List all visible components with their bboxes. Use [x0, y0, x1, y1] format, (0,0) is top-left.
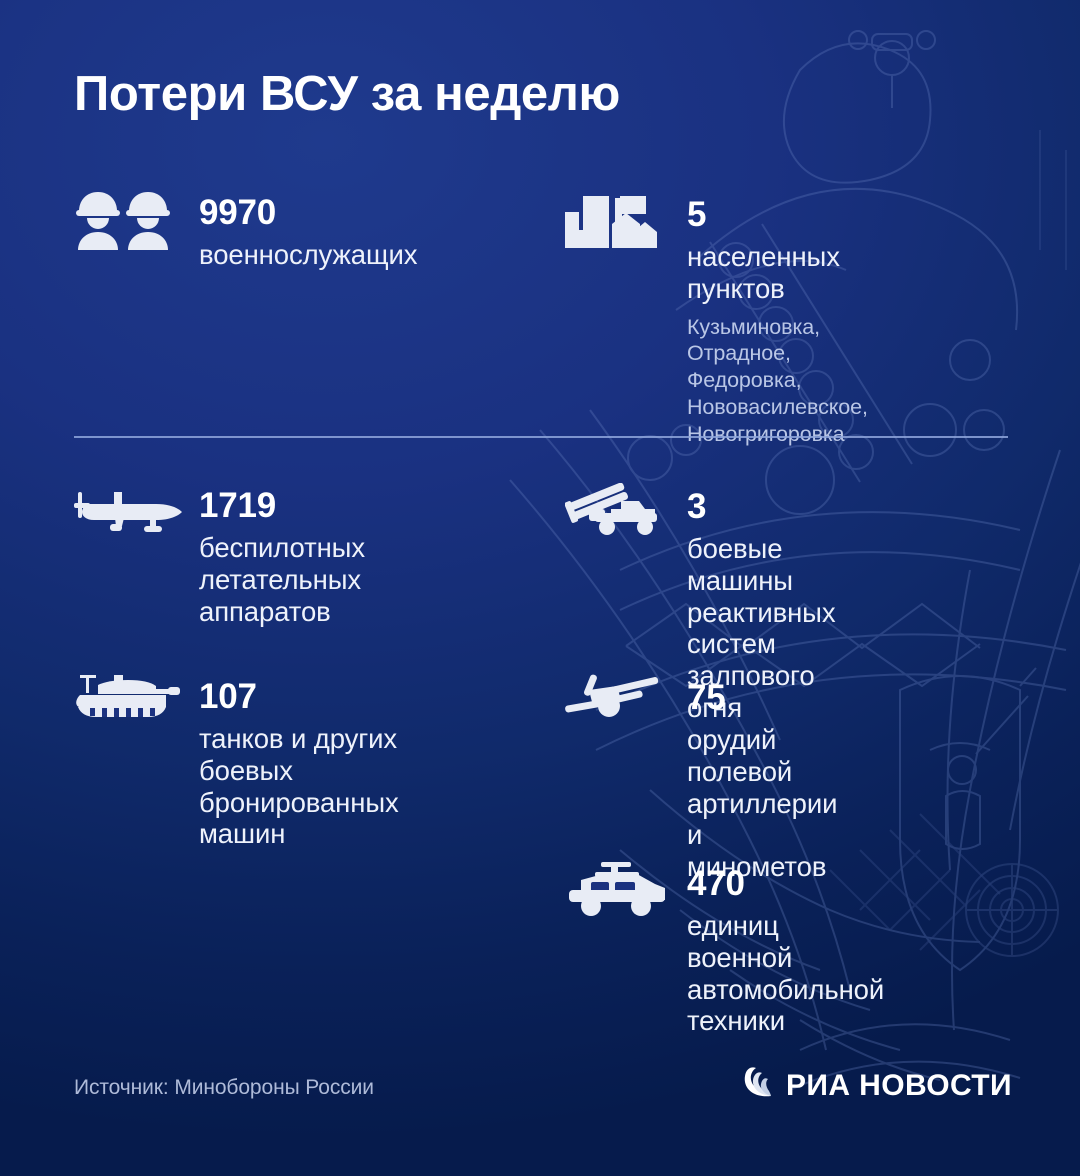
stat-number: 107 — [199, 679, 399, 714]
rocket-launcher-truck-icon — [565, 483, 669, 542]
stat-number: 1719 — [199, 488, 365, 523]
tank-icon — [74, 673, 184, 730]
ria-novosti-logo: РИА НОВОСТИ — [741, 1066, 1012, 1105]
stat-number: 470 — [687, 866, 884, 901]
source-note: Источник: Минобороны России — [74, 1076, 374, 1100]
stat-label: военнослужащих — [199, 239, 417, 271]
stat-number: 3 — [687, 489, 836, 524]
section-divider — [74, 436, 1008, 438]
field-gun-icon — [565, 672, 669, 729]
stat-label: орудий полевой артиллерии и минометов — [687, 724, 837, 883]
ria-logo-text: РИА НОВОСТИ — [786, 1071, 1012, 1101]
stat-label: единиц военной автомобильной техники — [687, 910, 884, 1037]
military-truck-icon — [565, 860, 669, 923]
settlement-names: Кузьминовка, Отрадное, Федоровка, Новова… — [687, 314, 868, 448]
stat-label: беспилотных летательных аппаратов — [199, 532, 365, 627]
two-soldiers-icon — [74, 190, 174, 257]
page-title: Потери ВСУ за неделю — [74, 66, 620, 122]
ria-swirl-icon — [741, 1066, 775, 1105]
infographic-poster: Потери ВСУ за неделю — [0, 0, 1080, 1176]
stat-label: танков и других боевых бронированных маш… — [199, 723, 399, 850]
drone-icon — [74, 488, 182, 541]
stat-label: населенных пунктов — [687, 241, 868, 305]
stat-number: 75 — [687, 680, 837, 715]
stat-number: 5 — [687, 197, 868, 232]
stat-number: 9970 — [199, 195, 417, 230]
settlement-buildings-icon — [565, 190, 661, 257]
